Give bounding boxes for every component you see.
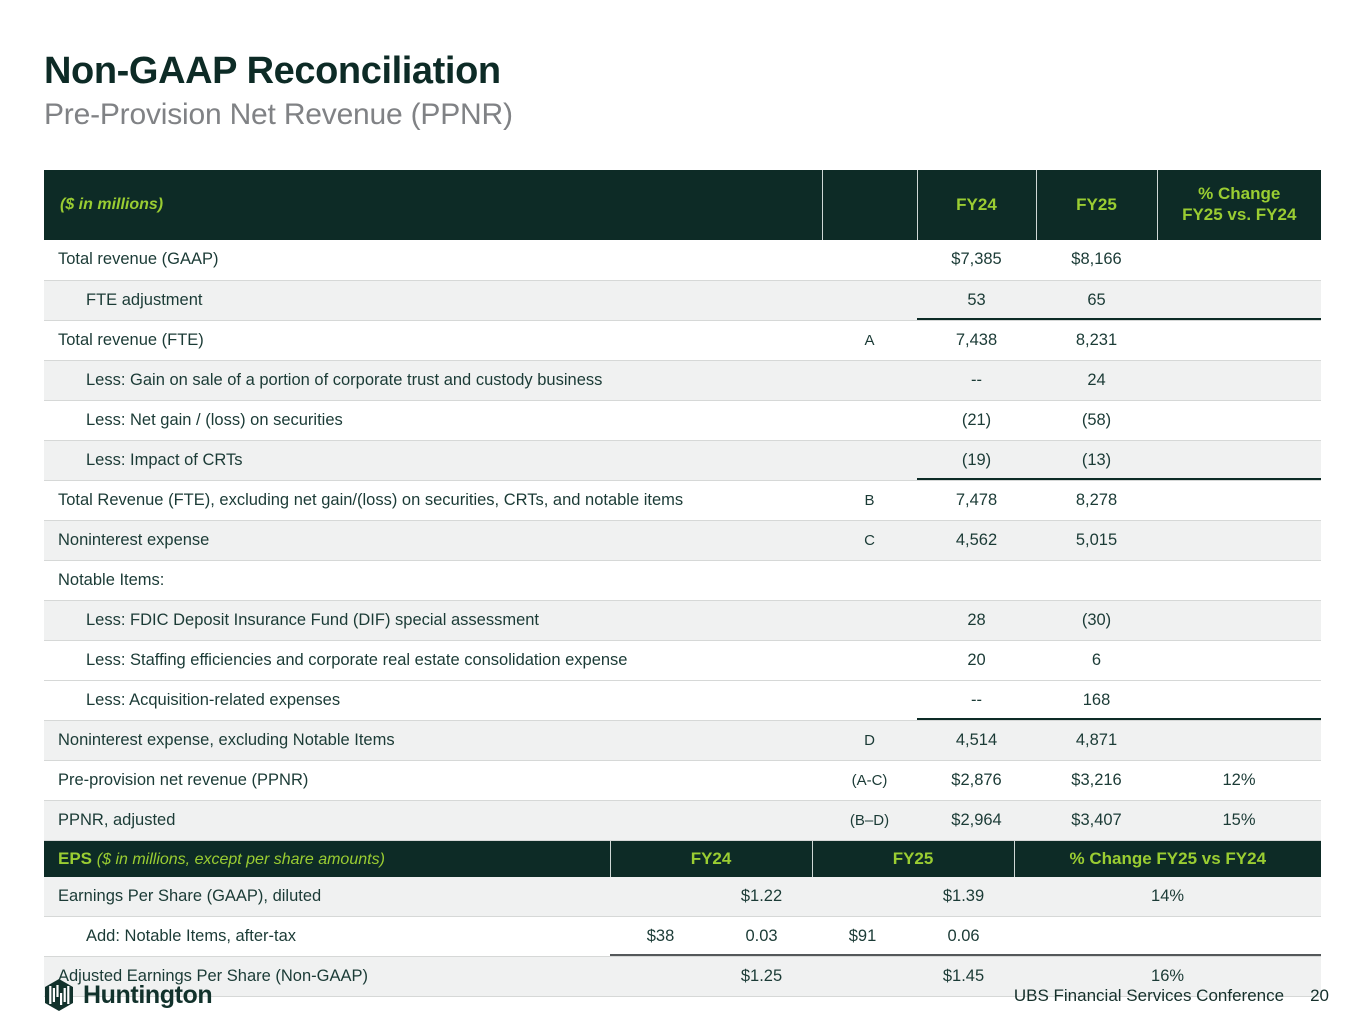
ppnr-table: ($ in millions) FY24 FY25 % Change FY25 …: [44, 170, 1321, 841]
row-fy24-amount: $38: [610, 917, 711, 957]
header-pct-change: % Change FY25 vs. FY24: [1157, 170, 1321, 240]
row-change: [1157, 720, 1321, 760]
row-label: Notable Items:: [44, 560, 822, 600]
table-row: Less: Staffing efficiencies and corporat…: [44, 640, 1321, 680]
row-ref: [822, 640, 917, 680]
table-row: PPNR, adjusted (B–D) $2,964 $3,407 15%: [44, 800, 1321, 840]
row-ref: D: [822, 720, 917, 760]
row-label: Earnings Per Share (GAAP), diluted: [44, 877, 610, 917]
row-fy25-amount: [812, 957, 913, 997]
row-ref: [822, 680, 917, 720]
row-fy25: 6: [1036, 640, 1157, 680]
row-change: [1157, 680, 1321, 720]
table-row: Pre-provision net revenue (PPNR) (A-C) $…: [44, 760, 1321, 800]
table-row: Notable Items:: [44, 560, 1321, 600]
row-fy24-amount: [610, 957, 711, 997]
row-label: Total revenue (FTE): [44, 320, 822, 360]
eps-header-row: EPS ($ in millions, except per share amo…: [44, 841, 1321, 877]
row-change: 14%: [1014, 877, 1321, 917]
row-fy25: [1036, 560, 1157, 600]
row-ref: (A-C): [822, 760, 917, 800]
row-fy25-amount: [812, 877, 913, 917]
row-fy24: $2,876: [917, 760, 1036, 800]
row-fy24: 4,562: [917, 520, 1036, 560]
row-fy25: (30): [1036, 600, 1157, 640]
row-label: Less: Impact of CRTs: [44, 440, 822, 480]
eps-header-fy24: FY24: [610, 841, 812, 877]
row-fy24: 53: [917, 280, 1036, 320]
row-fy24: $7,385: [917, 240, 1036, 280]
row-change: 12%: [1157, 760, 1321, 800]
row-change: [1157, 280, 1321, 320]
row-fy24: 28: [917, 600, 1036, 640]
table-row: Add: Notable Items, after-tax $38 0.03 $…: [44, 917, 1321, 957]
row-label: Noninterest expense, excluding Notable I…: [44, 720, 822, 760]
eps-note: ($ in millions, except per share amounts…: [97, 851, 385, 868]
table-row: FTE adjustment 53 65: [44, 280, 1321, 320]
row-fy25: $3,216: [1036, 760, 1157, 800]
page-subtitle: Pre-Provision Net Revenue (PPNR): [44, 96, 513, 134]
row-label: Less: Acquisition-related expenses: [44, 680, 822, 720]
row-fy25: 8,278: [1036, 480, 1157, 520]
row-label: FTE adjustment: [44, 280, 822, 320]
row-label: Add: Notable Items, after-tax: [44, 917, 610, 957]
conference-name: UBS Financial Services Conference: [1014, 986, 1284, 1006]
row-fy25: 5,015: [1036, 520, 1157, 560]
row-change: [1157, 640, 1321, 680]
table-row: Less: Net gain / (loss) on securities (2…: [44, 400, 1321, 440]
row-fy24-amount: [610, 877, 711, 917]
header-fy24: FY24: [917, 170, 1036, 240]
row-fy24: --: [917, 360, 1036, 400]
row-ref: (B–D): [822, 800, 917, 840]
page-number: 20: [1310, 986, 1329, 1006]
table-row: Total revenue (FTE) A 7,438 8,231: [44, 320, 1321, 360]
row-fy25: (13): [1036, 440, 1157, 480]
row-label: Pre-provision net revenue (PPNR): [44, 760, 822, 800]
table-row: Earnings Per Share (GAAP), diluted $1.22…: [44, 877, 1321, 917]
row-change: [1157, 360, 1321, 400]
footer-brand: Huntington: [44, 979, 212, 1011]
row-change: [1157, 240, 1321, 280]
row-fy25-eps: $1.45: [913, 957, 1014, 997]
row-fy24-eps: 0.03: [711, 917, 812, 957]
row-change: [1157, 560, 1321, 600]
row-fy24-eps: $1.22: [711, 877, 812, 917]
row-ref: [822, 240, 917, 280]
row-label: Less: FDIC Deposit Insurance Fund (DIF) …: [44, 600, 822, 640]
header-units-label: ($ in millions): [44, 170, 822, 240]
row-fy24: 7,438: [917, 320, 1036, 360]
row-fy25: 4,871: [1036, 720, 1157, 760]
row-label: Total revenue (GAAP): [44, 240, 822, 280]
row-ref: C: [822, 520, 917, 560]
page-title: Non-GAAP Reconciliation: [44, 52, 513, 92]
row-label: Less: Staffing efficiencies and corporat…: [44, 640, 822, 680]
table-row: Total Revenue (FTE), excluding net gain/…: [44, 480, 1321, 520]
ppnr-table-body: Total revenue (GAAP) $7,385 $8,166 FTE a…: [44, 240, 1321, 840]
header-pct-change-line1: % Change: [1158, 184, 1322, 205]
eps-header-label: EPS ($ in millions, except per share amo…: [44, 841, 610, 877]
header-ref-column: [822, 170, 917, 240]
table-row: Less: FDIC Deposit Insurance Fund (DIF) …: [44, 600, 1321, 640]
row-ref: [822, 280, 917, 320]
row-fy24: 20: [917, 640, 1036, 680]
footer-meta: UBS Financial Services Conference 20: [1014, 986, 1329, 1006]
row-label: Less: Gain on sale of a portion of corpo…: [44, 360, 822, 400]
eps-table-body: Earnings Per Share (GAAP), diluted $1.22…: [44, 877, 1321, 997]
row-fy24: (19): [917, 440, 1036, 480]
row-fy24: $2,964: [917, 800, 1036, 840]
reconciliation-tables: ($ in millions) FY24 FY25 % Change FY25 …: [44, 170, 1321, 997]
row-fy24: (21): [917, 400, 1036, 440]
row-ref: [822, 600, 917, 640]
row-label: PPNR, adjusted: [44, 800, 822, 840]
brand-wordmark: Huntington: [83, 981, 212, 1010]
row-fy24: 7,478: [917, 480, 1036, 520]
table-row: Less: Gain on sale of a portion of corpo…: [44, 360, 1321, 400]
table-row: Less: Impact of CRTs (19) (13): [44, 440, 1321, 480]
row-change: [1157, 480, 1321, 520]
row-label: Less: Net gain / (loss) on securities: [44, 400, 822, 440]
row-label: Total Revenue (FTE), excluding net gain/…: [44, 480, 822, 520]
eps-table: EPS ($ in millions, except per share amo…: [44, 841, 1321, 998]
row-change: [1157, 520, 1321, 560]
row-fy25-amount: $91: [812, 917, 913, 957]
row-fy25: $8,166: [1036, 240, 1157, 280]
row-ref: [822, 400, 917, 440]
row-ref: [822, 560, 917, 600]
row-fy25-eps: $1.39: [913, 877, 1014, 917]
row-fy25: $3,407: [1036, 800, 1157, 840]
row-fy24: [917, 560, 1036, 600]
row-fy25: (58): [1036, 400, 1157, 440]
table-row: Less: Acquisition-related expenses -- 16…: [44, 680, 1321, 720]
table-row: Noninterest expense, excluding Notable I…: [44, 720, 1321, 760]
row-fy25: 8,231: [1036, 320, 1157, 360]
eps-tag: EPS: [58, 849, 92, 868]
row-fy24-eps: $1.25: [711, 957, 812, 997]
row-fy25: 24: [1036, 360, 1157, 400]
row-ref: B: [822, 480, 917, 520]
table-row: Total revenue (GAAP) $7,385 $8,166: [44, 240, 1321, 280]
eps-header-fy25: FY25: [812, 841, 1014, 877]
header-pct-change-line2: FY25 vs. FY24: [1158, 205, 1322, 226]
row-fy24: 4,514: [917, 720, 1036, 760]
row-fy24: --: [917, 680, 1036, 720]
row-change: [1157, 440, 1321, 480]
row-change: [1157, 600, 1321, 640]
row-change: [1157, 320, 1321, 360]
row-label: Noninterest expense: [44, 520, 822, 560]
row-fy25: 65: [1036, 280, 1157, 320]
table-header-row: ($ in millions) FY24 FY25 % Change FY25 …: [44, 170, 1321, 240]
header-fy25: FY25: [1036, 170, 1157, 240]
row-ref: A: [822, 320, 917, 360]
row-fy25: 168: [1036, 680, 1157, 720]
title-block: Non-GAAP Reconciliation Pre-Provision Ne…: [44, 52, 513, 133]
row-ref: [822, 360, 917, 400]
row-change: 15%: [1157, 800, 1321, 840]
eps-header-change: % Change FY25 vs FY24: [1014, 841, 1321, 877]
row-ref: [822, 440, 917, 480]
huntington-logo-icon: [44, 979, 74, 1011]
row-change: [1157, 400, 1321, 440]
row-change: [1014, 917, 1321, 957]
table-row: Noninterest expense C 4,562 5,015: [44, 520, 1321, 560]
row-fy25-eps: 0.06: [913, 917, 1014, 957]
